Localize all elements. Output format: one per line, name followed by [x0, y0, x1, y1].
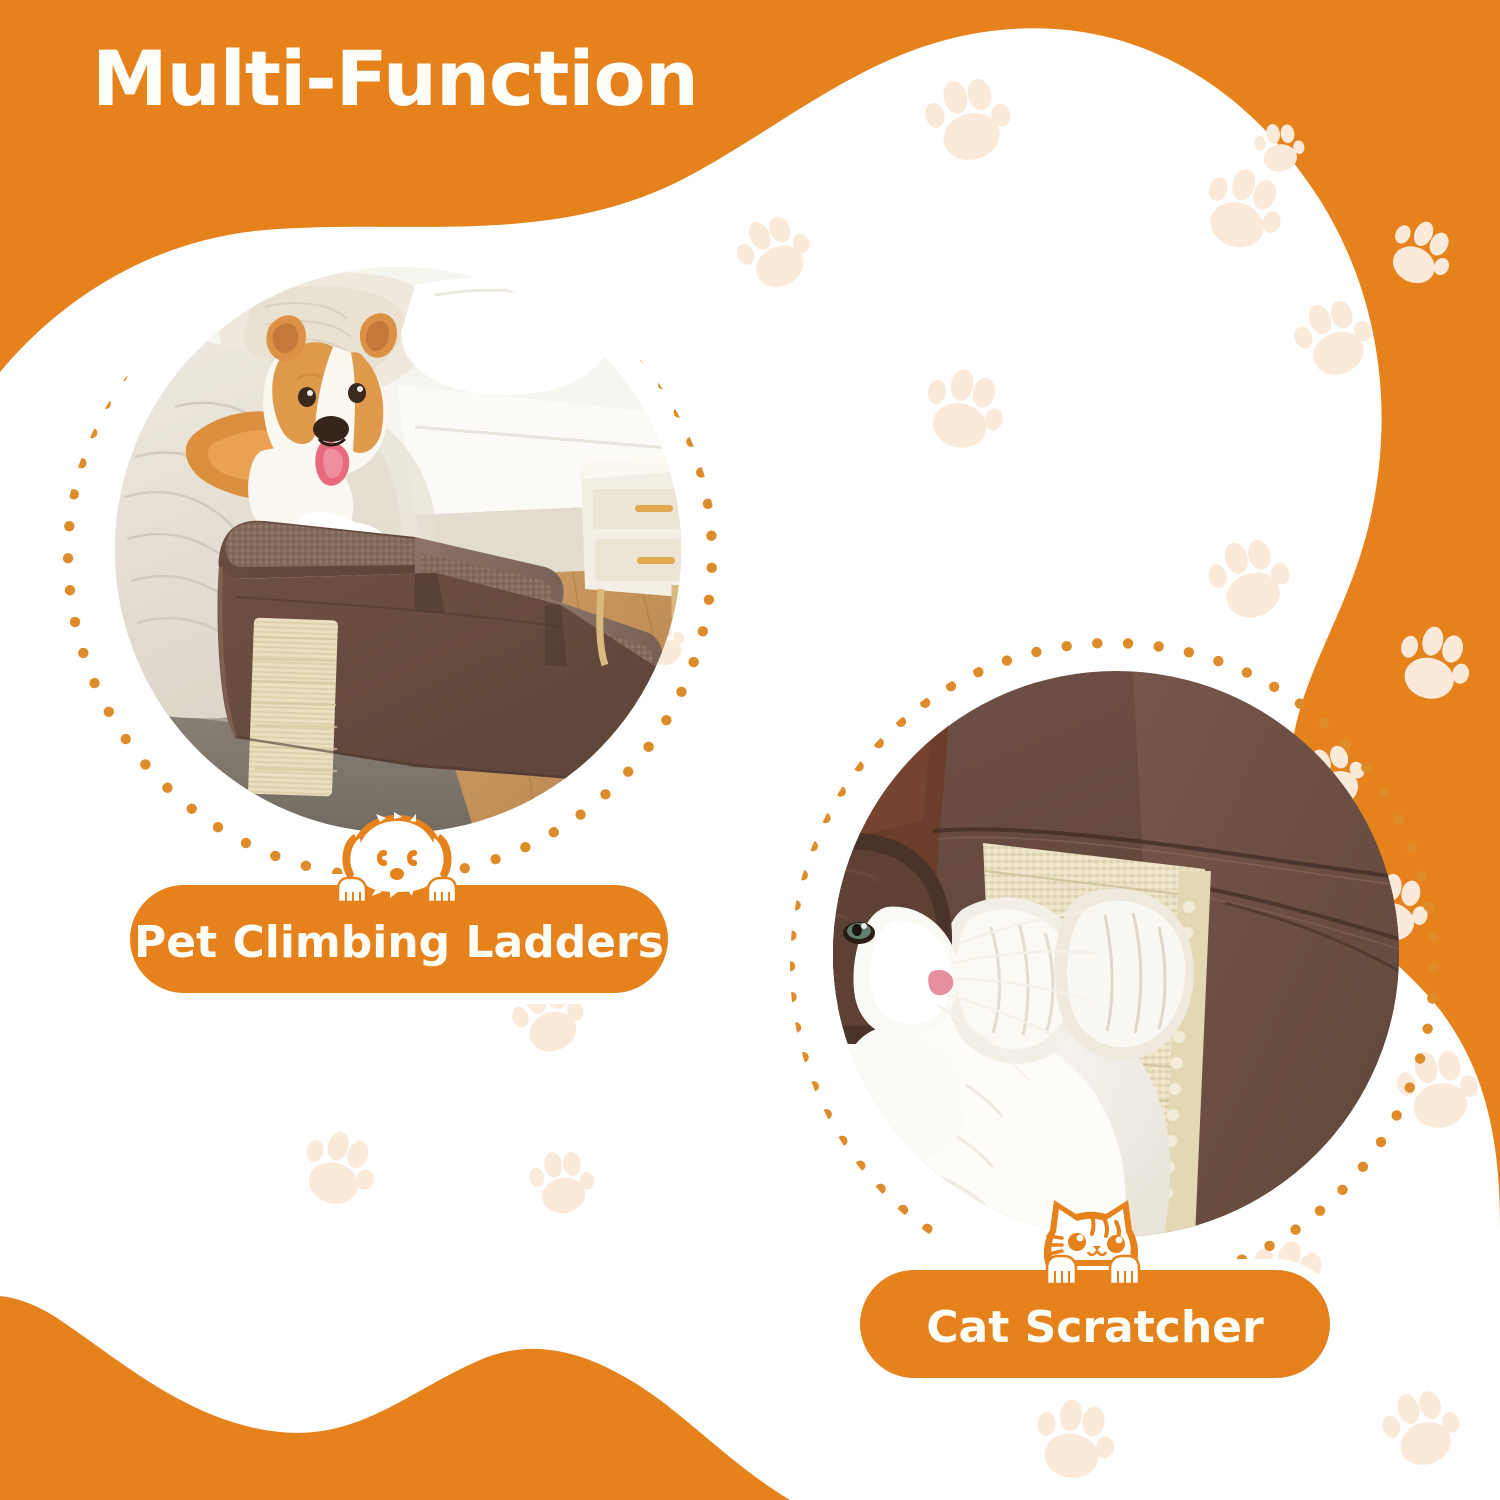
page-title: Multi-Function [92, 34, 698, 123]
feature-photo-card-pet-climbing-ladders [60, 245, 720, 905]
feature-badge-label: Cat Scratcher [926, 1302, 1263, 1353]
corgi-on-bed-with-pet-stairs-photo [115, 267, 681, 833]
cat-face-icon [1032, 1196, 1150, 1286]
infographic-canvas: Multi-Function [0, 0, 1500, 1500]
feature-badge-label: Pet Climbing Ladders [134, 917, 664, 968]
feature-badge-cat-scratcher[interactable]: Cat Scratcher [860, 1270, 1330, 1378]
dog-face-icon [336, 812, 458, 904]
ragdoll-cat-scratching-sisal-panel-photo [833, 671, 1399, 1237]
